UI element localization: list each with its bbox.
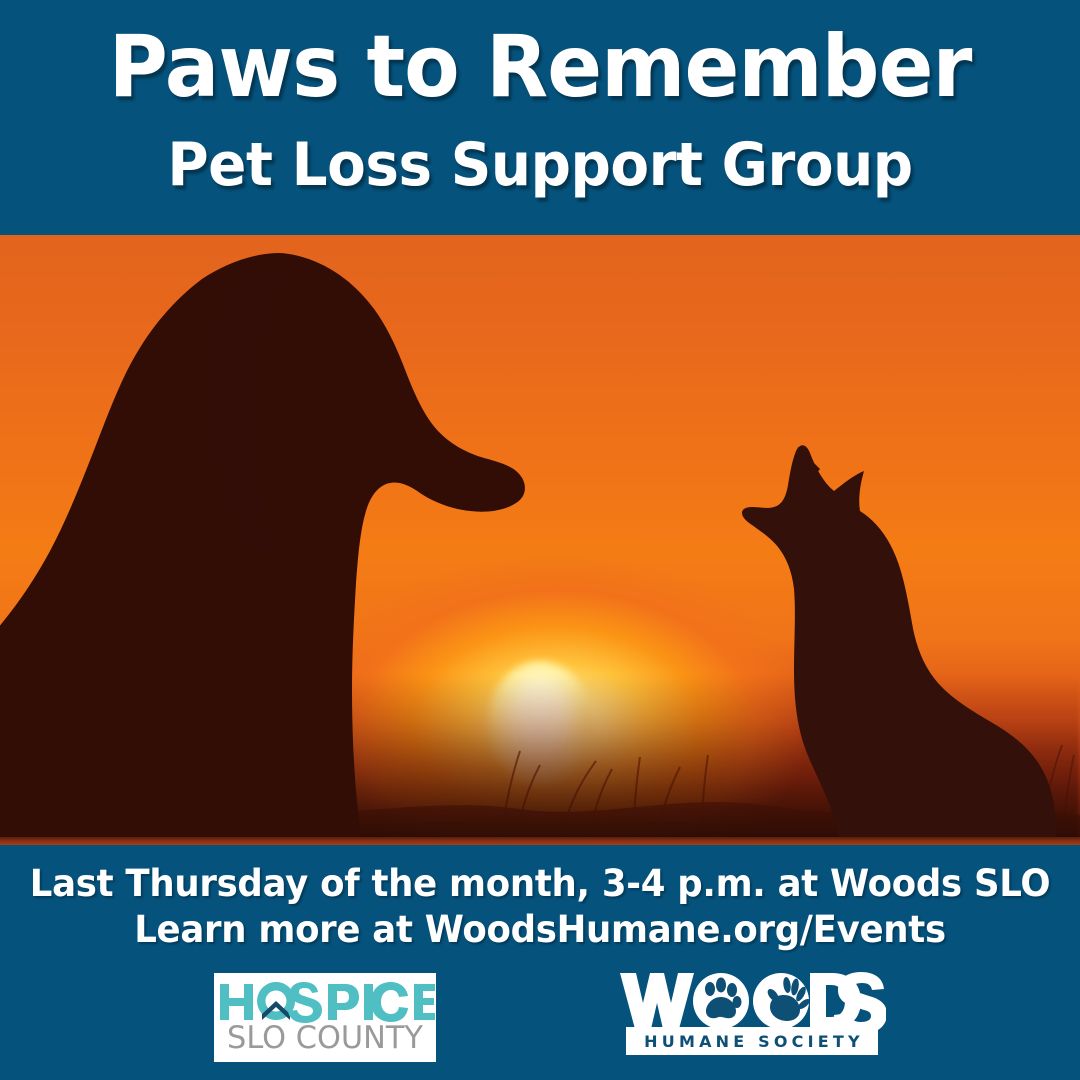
poster: Paws to Remember Pet Loss Support Group	[0, 0, 1080, 1080]
page-title: Paws to Remember	[32, 22, 1047, 112]
schedule-text: Last Thursday of the month, 3-4 p.m. at …	[22, 862, 1059, 906]
hospice-wordmark	[214, 980, 436, 1024]
hospice-logo-subtitle: SLO COUNTY	[216, 1021, 434, 1055]
woods-logo-subtitle-bar: HUMANE SOCIETY	[626, 1027, 878, 1055]
website-text: Learn more at WoodsHumane.org/Events	[22, 908, 1059, 952]
woods-humane-society-logo[interactable]: HUMANE SOCIETY	[618, 969, 886, 1061]
woods-logo-subtitle: HUMANE SOCIETY	[640, 1032, 864, 1051]
photo-bottom-band	[0, 837, 1080, 845]
hospice-slo-county-logo[interactable]: SLO COUNTY	[214, 973, 436, 1062]
sunset-photo	[0, 235, 1080, 845]
woods-wordmark	[618, 969, 886, 1035]
page-subtitle: Pet Loss Support Group	[32, 132, 1047, 198]
cat-silhouette	[690, 425, 1080, 845]
dog-silhouette	[0, 245, 600, 845]
header-banner: Paws to Remember Pet Loss Support Group	[0, 0, 1080, 235]
logo-row: SLO COUNTY	[0, 965, 1080, 1080]
